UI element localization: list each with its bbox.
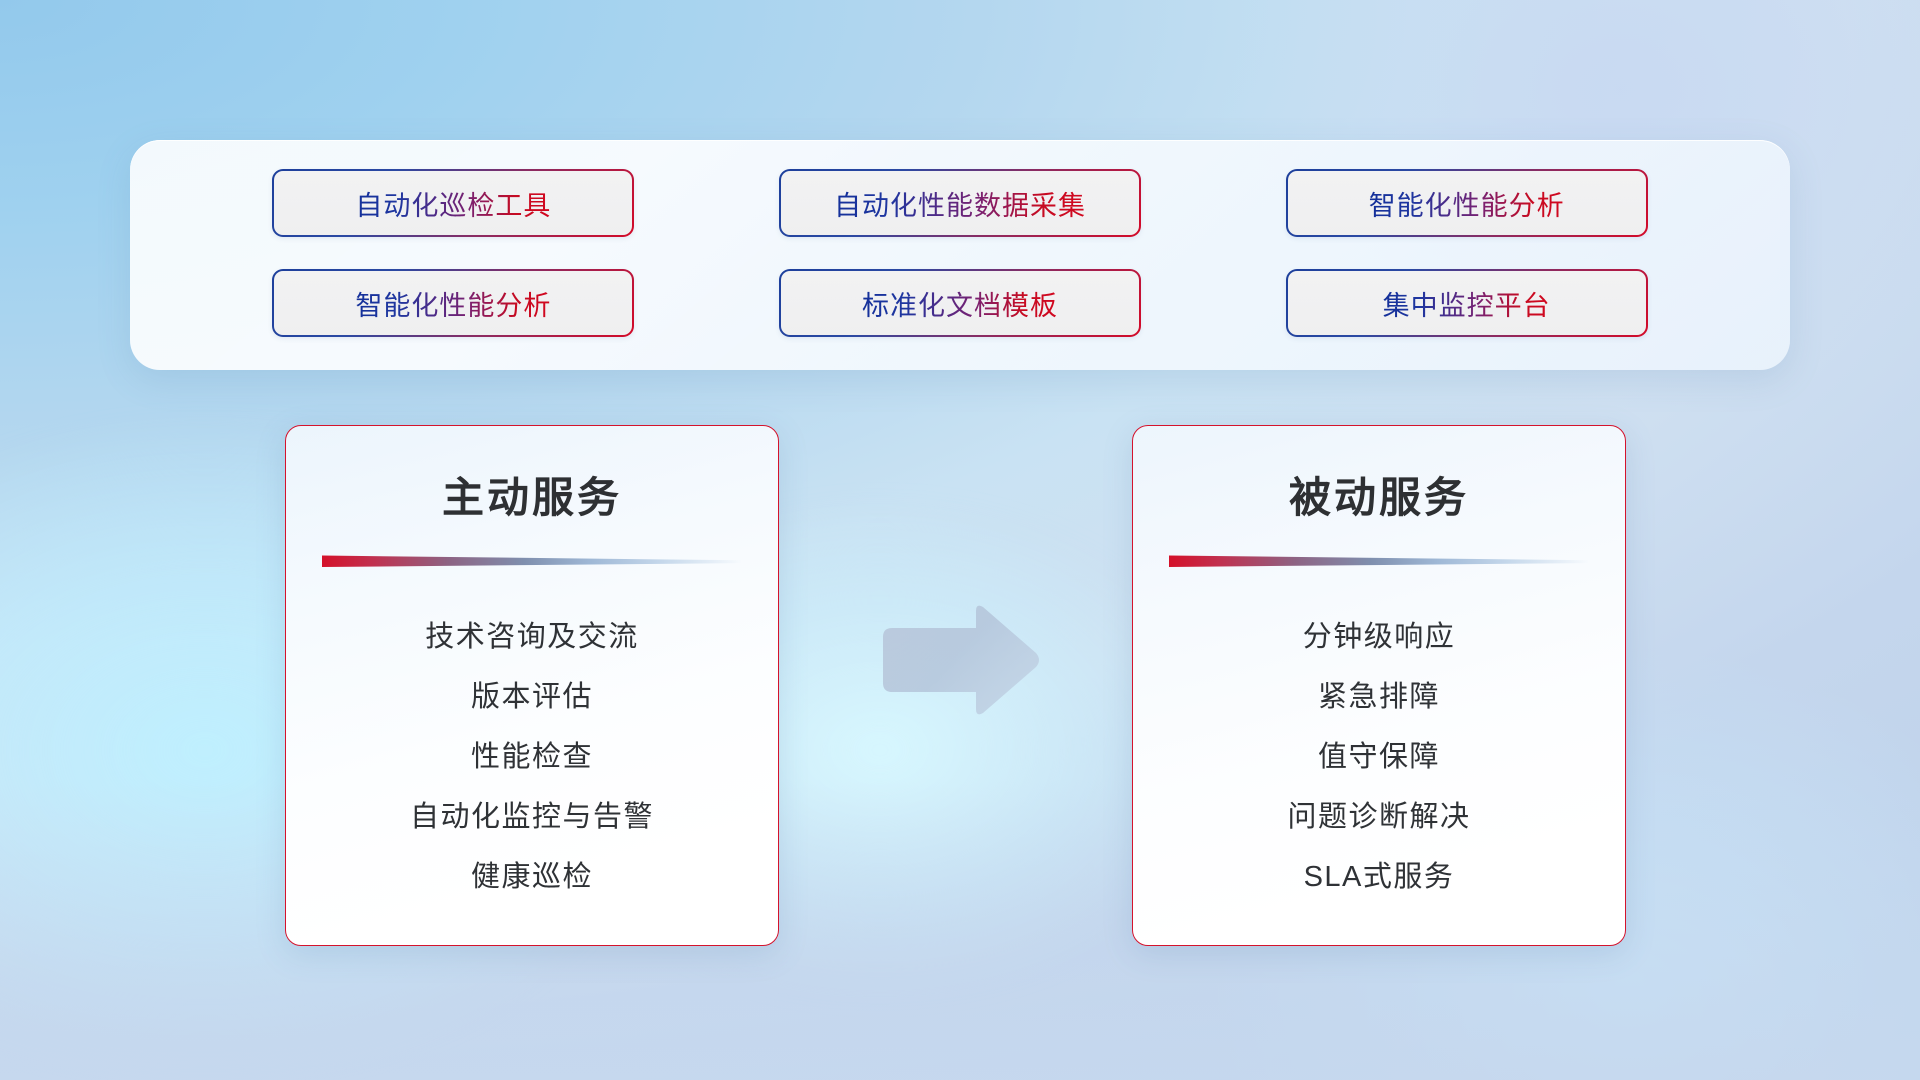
pill-label: 集中监控平台 — [1383, 284, 1551, 323]
pill-label: 智能化性能分析 — [355, 284, 551, 323]
list-item: 紧急排障 — [1318, 667, 1440, 727]
pill-intelligent-performance-analysis-bottom[interactable]: 智能化性能分析 — [272, 269, 634, 337]
list-item: 技术咨询及交流 — [425, 607, 639, 667]
pill-centralized-monitoring-platform[interactable]: 集中监控平台 — [1286, 269, 1648, 337]
card-passive-service[interactable]: 被动服务 分钟级响应 紧急排障 值守保障 问题诊断解决 SLA式服务 — [1132, 425, 1626, 946]
pill-label: 自动化性能数据采集 — [834, 184, 1086, 223]
list-item: 健康巡检 — [471, 847, 593, 907]
list-item: 自动化监控与告警 — [410, 787, 654, 847]
pill-grid: 自动化巡检工具 自动化性能数据采集 智能化性能分析 智能化性能分析 标准化文档模… — [130, 140, 1790, 370]
pill-intelligent-performance-analysis-top[interactable]: 智能化性能分析 — [1286, 169, 1648, 237]
list-item: SLA式服务 — [1304, 847, 1455, 907]
pill-label: 智能化性能分析 — [1369, 184, 1565, 223]
card-divider — [322, 553, 742, 567]
flow-arrow-right-icon — [879, 603, 1041, 717]
pill-label: 标准化文档模板 — [862, 284, 1058, 323]
list-item: 问题诊断解决 — [1287, 787, 1470, 847]
card-divider — [1169, 553, 1589, 567]
card-title: 被动服务 — [1133, 464, 1625, 525]
pill-automation-inspection-tool[interactable]: 自动化巡检工具 — [272, 169, 634, 237]
pill-standardized-document-template[interactable]: 标准化文档模板 — [779, 269, 1141, 337]
card-item-list: 分钟级响应 紧急排障 值守保障 问题诊断解决 SLA式服务 — [1133, 607, 1625, 907]
list-item: 值守保障 — [1318, 727, 1440, 787]
card-active-service[interactable]: 主动服务 技术咨询及交流 版本评估 性能检查 自动化监控与告警 健康巡检 — [285, 425, 779, 946]
list-item: 分钟级响应 — [1303, 607, 1456, 667]
card-item-list: 技术咨询及交流 版本评估 性能检查 自动化监控与告警 健康巡检 — [286, 607, 778, 907]
pill-label: 自动化巡检工具 — [355, 184, 551, 223]
pill-automation-performance-data-collection[interactable]: 自动化性能数据采集 — [779, 169, 1141, 237]
list-item: 版本评估 — [471, 667, 593, 727]
card-title: 主动服务 — [286, 464, 778, 525]
capability-pill-panel: 自动化巡检工具 自动化性能数据采集 智能化性能分析 智能化性能分析 标准化文档模… — [130, 140, 1790, 370]
list-item: 性能检查 — [471, 727, 593, 787]
